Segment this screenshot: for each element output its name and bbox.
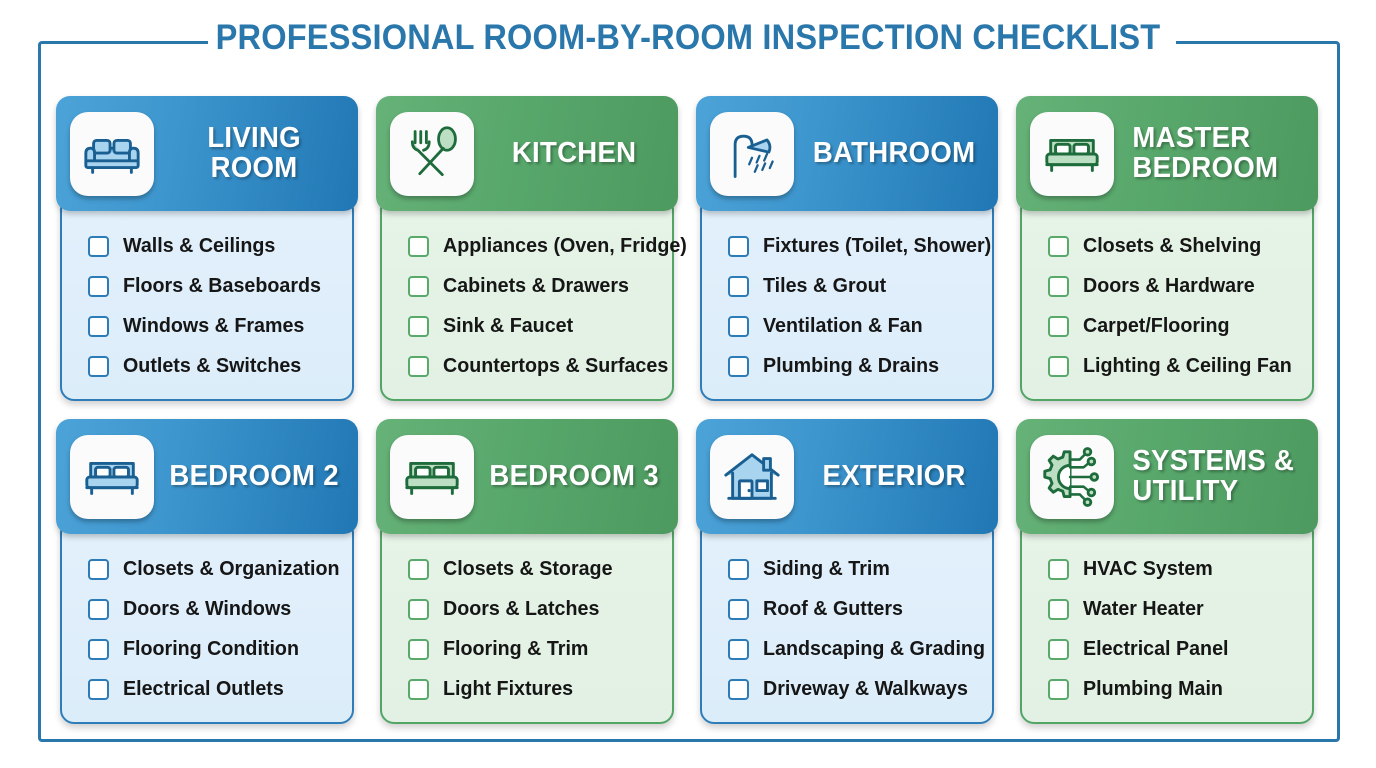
gear-circuit-icon — [1030, 435, 1114, 519]
card-systems-utility: SYSTEMS & UTILITYHVAC SystemWater Heater… — [1016, 419, 1318, 729]
checklist-item[interactable]: Electrical Panel — [1048, 629, 1312, 669]
checklist-item[interactable]: Tiles & Grout — [728, 266, 992, 306]
checkbox[interactable] — [728, 639, 749, 660]
checklist-item-label: Electrical Panel — [1083, 637, 1229, 661]
checkbox[interactable] — [408, 679, 429, 700]
checklist-item[interactable]: Closets & Organization — [88, 549, 352, 589]
checklist-item[interactable]: Closets & Storage — [408, 549, 672, 589]
checklist-item[interactable]: Walls & Ceilings — [88, 226, 352, 266]
checklist-item-label: Windows & Frames — [123, 314, 304, 338]
card-title: SYSTEMS & UTILITY — [1119, 447, 1313, 507]
card-bathroom: BATHROOMFixtures (Toilet, Shower)Tiles &… — [696, 96, 998, 406]
checklist-item[interactable]: Flooring Condition — [88, 629, 352, 669]
card-header-kitchen: KITCHEN — [376, 96, 678, 211]
checkbox[interactable] — [408, 236, 429, 257]
checklist-item[interactable]: Roof & Gutters — [728, 589, 992, 629]
card-title: BATHROOM — [799, 139, 993, 169]
checklist-item[interactable]: Flooring & Trim — [408, 629, 672, 669]
checkbox[interactable] — [408, 316, 429, 337]
checklist-item-label: Electrical Outlets — [123, 677, 284, 701]
checkbox[interactable] — [1048, 679, 1069, 700]
page-title: PROFESSIONAL ROOM-BY-ROOM INSPECTION CHE… — [48, 18, 1328, 58]
checklist-item[interactable]: Appliances (Oven, Fridge) — [408, 226, 672, 266]
checklist-item-label: Plumbing Main — [1083, 677, 1223, 701]
checkbox[interactable] — [408, 356, 429, 377]
checklist-item[interactable]: Driveway & Walkways — [728, 669, 992, 709]
card-bedroom-2: BEDROOM 2Closets & OrganizationDoors & W… — [56, 419, 358, 729]
checklist-item[interactable]: Plumbing & Drains — [728, 346, 992, 386]
card-body-kitchen: Appliances (Oven, Fridge)Cabinets & Draw… — [380, 196, 674, 401]
bed-icon — [70, 435, 154, 519]
checklist-item[interactable]: Countertops & Surfaces — [408, 346, 672, 386]
checklist-item-label: Fixtures (Toilet, Shower) — [763, 234, 991, 258]
checklist-item-label: Water Heater — [1083, 597, 1204, 621]
checkbox[interactable] — [88, 356, 109, 377]
card-master-bedroom: MASTER BEDROOMClosets & ShelvingDoors & … — [1016, 96, 1318, 406]
card-header-bedroom-3: BEDROOM 3 — [376, 419, 678, 534]
checklist-item-label: Doors & Windows — [123, 597, 291, 621]
checklist-item[interactable]: Ventilation & Fan — [728, 306, 992, 346]
checklist-item[interactable]: Floors & Baseboards — [88, 266, 352, 306]
checklist-item-label: Flooring Condition — [123, 637, 299, 661]
checkbox[interactable] — [728, 236, 749, 257]
checklist-item-label: Tiles & Grout — [763, 274, 886, 298]
checklist-item-label: Lighting & Ceiling Fan — [1083, 354, 1292, 378]
checklist-item-label: Closets & Storage — [443, 557, 613, 581]
checklist-item[interactable]: Closets & Shelving — [1048, 226, 1312, 266]
checklist-item-label: Siding & Trim — [763, 557, 890, 581]
card-header-master-bedroom: MASTER BEDROOM — [1016, 96, 1318, 211]
checklist-item-label: Closets & Organization — [123, 557, 340, 581]
checklist-item-label: Closets & Shelving — [1083, 234, 1261, 258]
card-body-bedroom-2: Closets & OrganizationDoors & WindowsFlo… — [60, 519, 354, 724]
checklist-item-label: Plumbing & Drains — [763, 354, 939, 378]
checkbox[interactable] — [408, 276, 429, 297]
checkbox[interactable] — [728, 356, 749, 377]
checkbox[interactable] — [88, 639, 109, 660]
card-title: BEDROOM 3 — [479, 462, 673, 492]
checklist-item-label: Outlets & Switches — [123, 354, 301, 378]
checkbox[interactable] — [1048, 599, 1069, 620]
checklist-item[interactable]: Landscaping & Grading — [728, 629, 992, 669]
checklist-item-label: Driveway & Walkways — [763, 677, 968, 701]
card-grid: LIVING ROOMWalls & CeilingsFloors & Base… — [56, 96, 1328, 729]
card-header-exterior: EXTERIOR — [696, 419, 998, 534]
card-body-systems-utility: HVAC SystemWater HeaterElectrical PanelP… — [1020, 519, 1314, 724]
checklist-item[interactable]: Doors & Hardware — [1048, 266, 1312, 306]
checkbox[interactable] — [1048, 356, 1069, 377]
card-title: MASTER BEDROOM — [1119, 124, 1313, 184]
checklist-item[interactable]: Water Heater — [1048, 589, 1312, 629]
checklist-item-label: Cabinets & Drawers — [443, 274, 629, 298]
checkbox[interactable] — [728, 599, 749, 620]
card-kitchen: KITCHENAppliances (Oven, Fridge)Cabinets… — [376, 96, 678, 406]
card-header-bathroom: BATHROOM — [696, 96, 998, 211]
house-icon — [710, 435, 794, 519]
checklist-item-label: Landscaping & Grading — [763, 637, 985, 661]
checklist-item[interactable]: Outlets & Switches — [88, 346, 352, 386]
checklist-item[interactable]: Sink & Faucet — [408, 306, 672, 346]
bed-icon — [390, 435, 474, 519]
card-body-bathroom: Fixtures (Toilet, Shower)Tiles & GroutVe… — [700, 196, 994, 401]
checklist-item[interactable]: Plumbing Main — [1048, 669, 1312, 709]
checkbox[interactable] — [728, 679, 749, 700]
checkbox[interactable] — [728, 316, 749, 337]
card-header-bedroom-2: BEDROOM 2 — [56, 419, 358, 534]
checkbox[interactable] — [88, 276, 109, 297]
checklist-item-label: Ventilation & Fan — [763, 314, 923, 338]
checklist-item-label: Light Fixtures — [443, 677, 573, 701]
card-title: KITCHEN — [479, 139, 673, 169]
checkbox[interactable] — [88, 599, 109, 620]
checkbox[interactable] — [728, 559, 749, 580]
checklist-item[interactable]: Cabinets & Drawers — [408, 266, 672, 306]
checklist-item[interactable]: Doors & Windows — [88, 589, 352, 629]
checklist-item[interactable]: Lighting & Ceiling Fan — [1048, 346, 1312, 386]
card-body-master-bedroom: Closets & ShelvingDoors & HardwareCarpet… — [1020, 196, 1314, 401]
card-exterior: EXTERIORSiding & TrimRoof & GuttersLands… — [696, 419, 998, 729]
checklist-item-label: Flooring & Trim — [443, 637, 588, 661]
checklist-item-label: HVAC System — [1083, 557, 1213, 581]
card-body-living-room: Walls & CeilingsFloors & BaseboardsWindo… — [60, 196, 354, 401]
checkbox[interactable] — [1048, 316, 1069, 337]
checklist-item-label: Walls & Ceilings — [123, 234, 275, 258]
checklist-item-label: Appliances (Oven, Fridge) — [443, 234, 687, 258]
card-title: EXTERIOR — [799, 462, 993, 492]
checklist-item-label: Floors & Baseboards — [123, 274, 321, 298]
sofa-icon — [70, 112, 154, 196]
card-body-bedroom-3: Closets & StorageDoors & LatchesFlooring… — [380, 519, 674, 724]
checkbox[interactable] — [88, 679, 109, 700]
checkbox[interactable] — [1048, 559, 1069, 580]
checklist-item-label: Countertops & Surfaces — [443, 354, 668, 378]
checkbox[interactable] — [1048, 236, 1069, 257]
card-title: LIVING ROOM — [159, 124, 353, 184]
checklist-item[interactable]: Light Fixtures — [408, 669, 672, 709]
card-header-living-room: LIVING ROOM — [56, 96, 358, 211]
checklist-item[interactable]: Carpet/Flooring — [1048, 306, 1312, 346]
card-bedroom-3: BEDROOM 3Closets & StorageDoors & Latche… — [376, 419, 678, 729]
checkbox[interactable] — [728, 276, 749, 297]
checklist-item-label: Doors & Hardware — [1083, 274, 1255, 298]
checklist-item-label: Doors & Latches — [443, 597, 599, 621]
checkbox[interactable] — [1048, 639, 1069, 660]
card-body-exterior: Siding & TrimRoof & GuttersLandscaping &… — [700, 519, 994, 724]
shower-icon — [710, 112, 794, 196]
card-title: BEDROOM 2 — [159, 462, 353, 492]
checklist-item[interactable]: Fixtures (Toilet, Shower) — [728, 226, 992, 266]
fork-and-spoon-icon — [390, 112, 474, 196]
card-header-systems-utility: SYSTEMS & UTILITY — [1016, 419, 1318, 534]
bed-icon — [1030, 112, 1114, 196]
infographic-root: PROFESSIONAL ROOM-BY-ROOM INSPECTION CHE… — [0, 0, 1376, 768]
checkbox[interactable] — [408, 599, 429, 620]
card-living-room: LIVING ROOMWalls & CeilingsFloors & Base… — [56, 96, 358, 406]
checkbox[interactable] — [88, 316, 109, 337]
checklist-item[interactable]: Windows & Frames — [88, 306, 352, 346]
checklist-item-label: Carpet/Flooring — [1083, 314, 1230, 338]
checklist-item[interactable]: HVAC System — [1048, 549, 1312, 589]
checklist-item-label: Sink & Faucet — [443, 314, 573, 338]
checkbox[interactable] — [1048, 276, 1069, 297]
checkbox[interactable] — [408, 639, 429, 660]
checkbox[interactable] — [408, 559, 429, 580]
checkbox[interactable] — [88, 236, 109, 257]
checklist-item[interactable]: Electrical Outlets — [88, 669, 352, 709]
checklist-item[interactable]: Doors & Latches — [408, 589, 672, 629]
checklist-item[interactable]: Siding & Trim — [728, 549, 992, 589]
checklist-item-label: Roof & Gutters — [763, 597, 903, 621]
checkbox[interactable] — [88, 559, 109, 580]
